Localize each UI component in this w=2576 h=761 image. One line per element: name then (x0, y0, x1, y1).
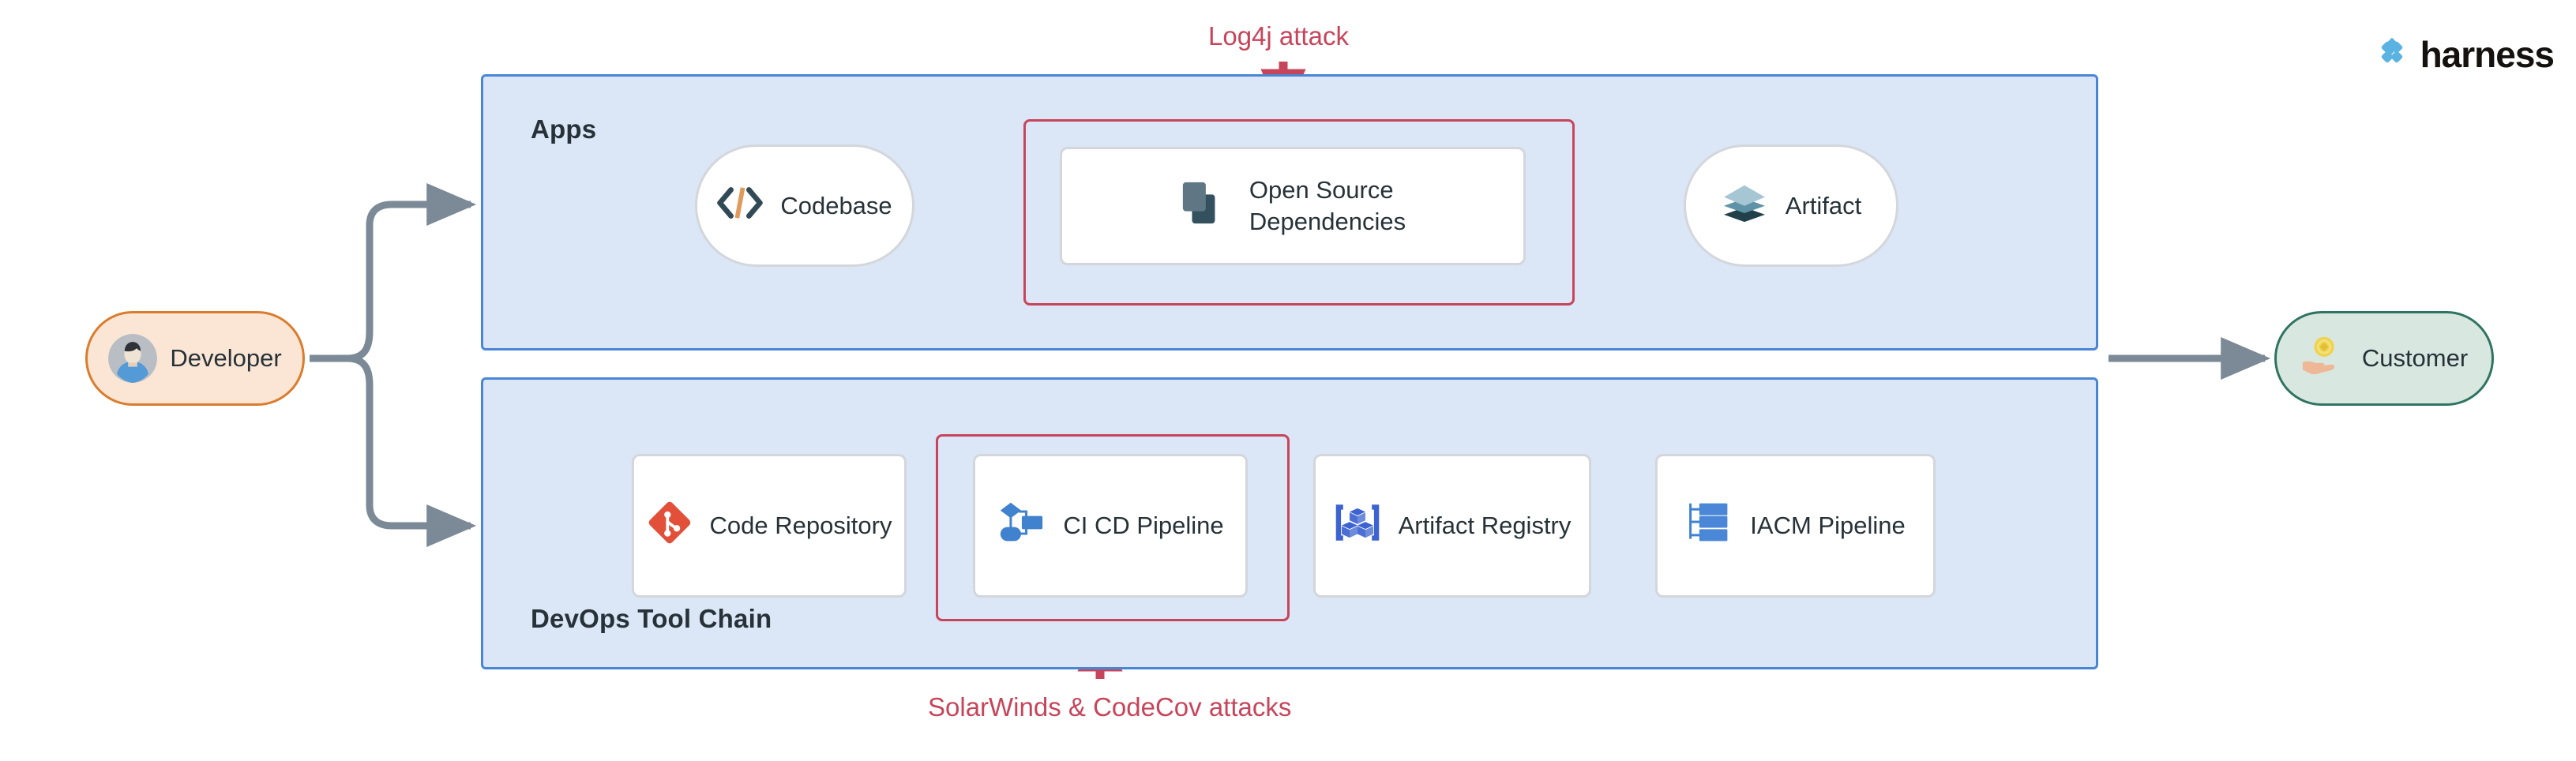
node-iacm-pipeline-label: IACM Pipeline (1750, 510, 1905, 542)
flowchart-icon (997, 500, 1046, 552)
hand-with-coin-icon (2300, 331, 2349, 386)
node-ci-cd-pipeline[interactable]: CI CD Pipeline (973, 454, 1248, 598)
node-customer-label: Customer (2362, 343, 2468, 374)
layers-stack-icon (1721, 182, 1768, 230)
group-devops-tool-chain-title: DevOps Tool Chain (531, 604, 772, 634)
node-artifact-registry-label: Artifact Registry (1399, 510, 1572, 542)
node-open-source-dependencies-label: Open Source Dependencies (1249, 174, 1406, 237)
code-brackets-icon (717, 186, 763, 227)
harness-diamond-logo-icon (2375, 35, 2409, 73)
user-avatar-icon (108, 334, 157, 383)
attack-label-log4j: Log4j attack (1208, 21, 1349, 51)
connector-developer-to-apps (347, 204, 471, 358)
node-developer[interactable]: Developer (85, 311, 305, 406)
node-artifact[interactable]: Artifact (1684, 144, 1898, 267)
diagram-canvas: Apps DevOps Tool Chain Developer (0, 0, 2576, 761)
node-codebase-label: Codebase (780, 190, 892, 222)
attack-label-solarwinds-codecov: SolarWinds & CodeCov attacks (928, 692, 1291, 722)
hierarchy-bars-icon (1685, 500, 1733, 552)
node-artifact-registry[interactable]: Artifact Registry (1313, 454, 1591, 598)
stacked-squares-icon (1180, 179, 1226, 233)
registry-cubes-icon (1334, 500, 1381, 551)
brand-logo: harness (2375, 35, 2554, 73)
node-osdeps-label-line1: Open Source (1249, 176, 1394, 204)
node-ci-cd-pipeline-label: CI CD Pipeline (1063, 510, 1223, 542)
git-logo-icon (647, 500, 693, 552)
node-code-repository-label: Code Repository (710, 510, 892, 542)
group-apps-title: Apps (531, 114, 596, 144)
node-developer-label: Developer (170, 343, 281, 374)
brand-wordmark: harness (2420, 36, 2554, 73)
node-open-source-dependencies[interactable]: Open Source Dependencies (1060, 147, 1526, 265)
connector-developer-to-devops (347, 358, 471, 526)
node-iacm-pipeline[interactable]: IACM Pipeline (1655, 454, 1936, 598)
node-code-repository[interactable]: Code Repository (632, 454, 907, 598)
node-artifact-label: Artifact (1786, 190, 1861, 222)
node-codebase[interactable]: Codebase (695, 144, 914, 267)
node-customer[interactable]: Customer (2274, 311, 2494, 406)
node-osdeps-label-line2: Dependencies (1249, 208, 1406, 235)
